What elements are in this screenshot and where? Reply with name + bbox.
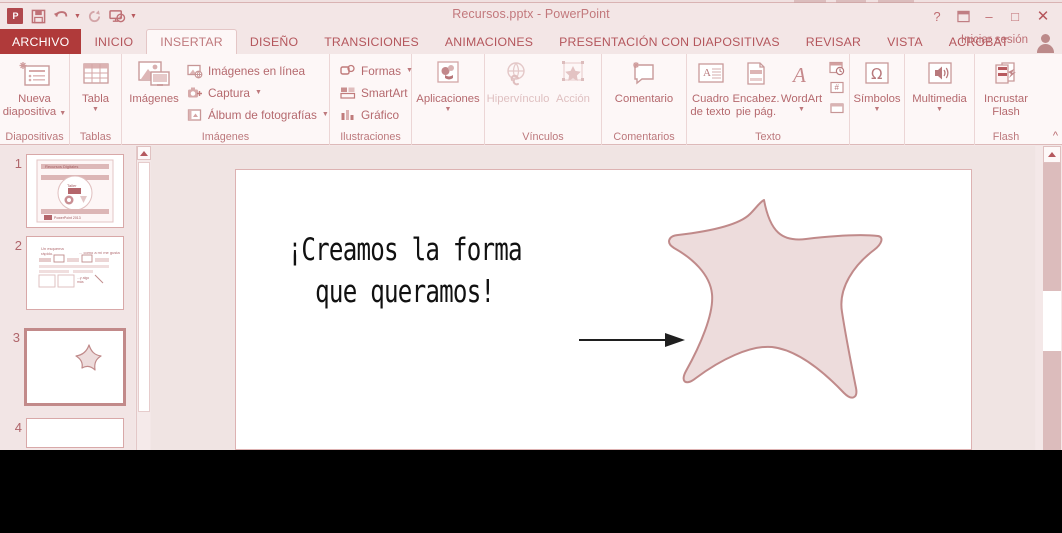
slide-text-block[interactable]: ¡Creamos la forma que queramos!	[276, 230, 533, 314]
slide-thumb-1[interactable]: Recursos Digitales Taller PowerPoint 201…	[26, 154, 124, 228]
slide-text-line-2: que queramos!	[276, 272, 533, 314]
ribbon-group-imagenes: Imágenes Imágenes en línea	[122, 54, 330, 145]
hyperlink-icon	[502, 57, 534, 93]
svg-text:A: A	[703, 67, 711, 79]
photo-album-item[interactable]: Álbum de fotografías ▼	[186, 104, 329, 126]
svg-text:Ω: Ω	[871, 65, 882, 83]
slide-number-icon[interactable]: #	[828, 79, 848, 97]
group-label-diapositivas: Diapositivas	[0, 130, 69, 145]
object-icon[interactable]	[828, 99, 848, 117]
svg-text:más: más	[77, 280, 84, 284]
powerpoint-window: P ▼	[0, 0, 1062, 450]
screenshot-icon	[186, 85, 203, 102]
slide-2-preview: Un esquema rápido... ... como a mí me gu…	[27, 237, 123, 309]
group-label-ilustraciones: Ilustraciones	[330, 130, 411, 145]
scroll-up-icon	[140, 151, 148, 156]
embed-flash-label-2: Flash	[992, 106, 1020, 119]
svg-text:#: #	[835, 83, 840, 92]
ribbon-group-multimedia: Multimedia ▼	[905, 54, 975, 145]
svg-text:Taller: Taller	[67, 183, 77, 188]
media-speaker-icon	[925, 57, 955, 93]
apps-label: Aplicaciones	[416, 93, 479, 106]
online-pictures-icon	[186, 63, 203, 80]
avatar[interactable]	[1034, 32, 1056, 53]
sign-in-link[interactable]: Iniciar sesión	[961, 34, 1028, 46]
embed-flash-icon	[990, 57, 1022, 93]
group-label-tablas: Tablas	[70, 130, 121, 145]
group-label-simbolos	[850, 130, 904, 145]
slide-thumb-3[interactable]	[24, 328, 126, 406]
action-icon	[557, 57, 589, 93]
date-time-icon[interactable]	[828, 59, 848, 77]
minimize-button[interactable]: –	[976, 5, 1002, 27]
slide-thumb-2[interactable]: Un esquema rápido... ... como a mí me gu…	[26, 236, 124, 310]
tab-vista[interactable]: VISTA	[874, 29, 936, 54]
ribbon-group-comentarios: Comentario Comentarios	[602, 54, 687, 145]
ribbon-options-icon[interactable]	[950, 5, 976, 27]
scroll-up-icon	[1048, 152, 1056, 157]
table-button[interactable]: Tabla ▼	[70, 57, 121, 114]
wordart-caret-icon[interactable]: ▼	[798, 106, 805, 114]
ribbon-group-vinculos: Hipervínculo Acción	[485, 54, 602, 145]
slide-number-2: 2	[4, 236, 22, 253]
new-slide-label-1: Nueva	[18, 93, 51, 106]
slide-canvas[interactable]: ¡Creamos la forma que queramos!	[235, 169, 972, 450]
wordart-label: WordArt	[781, 93, 822, 106]
ribbon-group-diapositivas: Nueva diapositiva ▼ Diapositivas	[0, 54, 70, 145]
maximize-button[interactable]: □	[1002, 5, 1028, 27]
freeform-star-shape[interactable]	[646, 190, 906, 430]
action-button[interactable]: Acción	[548, 57, 598, 106]
collapse-ribbon-icon[interactable]: ^	[1053, 130, 1058, 142]
media-button[interactable]: Multimedia ▼	[905, 57, 974, 114]
smartart-label: SmartArt	[361, 86, 408, 100]
online-pictures-label: Imágenes en línea	[208, 64, 305, 78]
screenshot-caret-icon[interactable]: ▼	[255, 89, 262, 97]
svg-text:PowerPoint 2013: PowerPoint 2013	[54, 216, 81, 220]
symbol-omega-icon: Ω	[862, 57, 892, 93]
ribbon-group-ilustraciones: Formas ▼ SmartArt	[330, 54, 412, 145]
symbols-label: Símbolos	[853, 93, 900, 106]
text-box-icon: A	[696, 57, 726, 93]
embed-flash-button[interactable]: Incrustar Flash	[975, 57, 1037, 118]
hyperlink-button[interactable]: Hipervínculo	[488, 57, 548, 106]
header-footer-label-2: pie pág.	[736, 106, 776, 119]
header-footer-label-1: Encabez.	[732, 93, 779, 106]
group-label-vinculos: Vínculos	[485, 130, 601, 145]
window-title: Recursos.pptx - PowerPoint	[0, 7, 1062, 21]
tab-inicio[interactable]: INICIO	[81, 29, 146, 54]
thumbnail-scroll-up-button[interactable]	[137, 146, 151, 160]
ribbon-group-simbolos: Ω Símbolos ▼	[850, 54, 905, 145]
tab-presentacion[interactable]: PRESENTACIÓN CON DIAPOSITIVAS	[546, 29, 793, 54]
shapes-label: Formas	[361, 64, 401, 78]
screenshot-item[interactable]: Captura ▼	[186, 82, 329, 104]
main-vertical-scrollbar[interactable]	[1036, 146, 1062, 450]
chart-icon	[339, 107, 356, 124]
media-label: Multimedia	[912, 93, 967, 106]
online-pictures-item[interactable]: Imágenes en línea	[186, 60, 329, 82]
list-item[interactable]: 4	[4, 418, 124, 448]
svg-text:... como a mí me gusta: ... como a mí me gusta	[79, 250, 120, 255]
slide-edit-area[interactable]: ¡Creamos la forma que queramos!	[151, 146, 1035, 450]
table-caret-icon[interactable]: ▼	[92, 106, 99, 114]
tab-transiciones[interactable]: TRANSICIONES	[311, 29, 432, 54]
new-slide-button[interactable]: Nueva diapositiva ▼	[0, 57, 69, 118]
thumbnail-panel-scrollbar[interactable]	[136, 146, 150, 450]
tab-list: ARCHIVO INICIO INSERTAR DISEÑO TRANSICIO…	[0, 29, 1022, 54]
shapes-item[interactable]: Formas ▼	[339, 60, 413, 82]
pictures-label: Imágenes	[129, 93, 179, 106]
tab-insertar[interactable]: INSERTAR	[146, 29, 237, 54]
svg-text:A: A	[791, 63, 806, 87]
tab-archivo[interactable]: ARCHIVO	[0, 29, 81, 54]
group-label-texto: Texto	[687, 130, 849, 145]
header-footer-button[interactable]: Encabez. pie pág.	[733, 57, 780, 118]
group-label-flash: Flash	[975, 130, 1037, 145]
chart-item[interactable]: Gráfico	[339, 104, 413, 126]
main-scroll-up-button[interactable]	[1043, 146, 1061, 163]
slide-number-1: 1	[4, 154, 22, 171]
list-item[interactable]: 2 Un esquema rápido... ... como a mí me …	[4, 236, 124, 310]
embed-flash-label-1: Incrustar	[984, 93, 1028, 106]
ribbon-group-tablas: Tabla ▼ Tablas	[70, 54, 122, 145]
tab-revisar[interactable]: REVISAR	[793, 29, 874, 54]
hyperlink-label: Hipervínculo	[487, 93, 550, 106]
wordart-icon: A	[788, 57, 816, 93]
ribbon-group-aplicaciones: Aplicaciones ▼	[412, 54, 485, 145]
window-controls: ? – □ ✕	[924, 5, 1058, 27]
group-label-imagenes: Imágenes	[122, 130, 329, 145]
tab-diseno[interactable]: DISEÑO	[237, 29, 311, 54]
apps-button[interactable]: Aplicaciones ▼	[412, 57, 484, 114]
photo-album-label: Álbum de fotografías	[208, 108, 317, 122]
ilustraciones-commands: Formas ▼ SmartArt	[335, 57, 413, 129]
help-icon[interactable]: ?	[924, 5, 950, 27]
apps-caret-icon[interactable]: ▼	[445, 106, 452, 114]
slides-thumbnail-panel[interactable]: 1 Recursos Digitales Taller PowerPoint 2…	[0, 146, 135, 450]
ribbon-group-flash: Incrustar Flash Flash	[975, 54, 1037, 145]
symbols-caret-icon[interactable]: ▼	[874, 106, 881, 114]
smartart-icon	[339, 85, 356, 102]
shapes-icon	[339, 63, 356, 80]
comment-button[interactable]: Comentario	[602, 57, 686, 106]
new-slide-label-2: diapositiva ▼	[3, 106, 66, 119]
new-slide-icon	[18, 57, 52, 93]
group-label-comentarios: Comentarios	[602, 130, 686, 145]
wordart-button[interactable]: A WordArt ▼	[780, 57, 824, 114]
ribbon-tabs: ARCHIVO INICIO INSERTAR DISEÑO TRANSICIO…	[0, 29, 1062, 54]
list-item[interactable]: 1 Recursos Digitales Taller PowerPoint 2…	[4, 154, 124, 228]
table-icon	[81, 57, 111, 93]
list-item[interactable]: 3	[2, 328, 126, 406]
action-label: Acción	[556, 93, 590, 106]
apps-icon	[431, 57, 465, 93]
title-bar: P ▼	[0, 3, 1062, 29]
comment-icon	[627, 57, 661, 93]
header-footer-icon	[743, 57, 769, 93]
group-label-aplicaciones	[412, 130, 484, 145]
slide-number-3: 3	[2, 328, 20, 345]
ribbon-group-texto: A Cuadro de texto	[687, 54, 850, 145]
slide-thumb-4[interactable]	[26, 418, 124, 448]
imagenes-small-commands: Imágenes en línea Captura ▼	[182, 57, 329, 129]
thumbnail-scrollbar-thumb[interactable]	[138, 162, 150, 412]
ribbon: Nueva diapositiva ▼ Diapositivas	[0, 54, 1062, 145]
slide-3-preview	[27, 331, 123, 403]
photo-album-icon	[186, 107, 203, 124]
close-button[interactable]: ✕	[1028, 5, 1058, 27]
main-scrollbar-thumb[interactable]	[1043, 291, 1061, 351]
svg-text:Recursos Digitales: Recursos Digitales	[45, 164, 78, 169]
pictures-button[interactable]: Imágenes	[126, 57, 182, 106]
slide-text-line-1: ¡Creamos la forma	[276, 230, 533, 272]
photo-album-caret-icon[interactable]: ▼	[322, 111, 329, 119]
pictures-icon	[136, 57, 172, 93]
texto-mini-commands: #	[824, 57, 848, 129]
group-label-multimedia	[905, 130, 974, 145]
table-label: Tabla	[82, 93, 109, 106]
text-box-button[interactable]: A Cuadro de texto	[689, 57, 733, 118]
symbols-button[interactable]: Ω Símbolos ▼	[850, 57, 904, 114]
slide-number-4: 4	[4, 418, 22, 435]
chart-label: Gráfico	[361, 108, 399, 122]
media-caret-icon[interactable]: ▼	[936, 106, 943, 114]
slide-1-preview: Recursos Digitales Taller PowerPoint 201…	[27, 155, 123, 227]
smartart-item[interactable]: SmartArt	[339, 82, 413, 104]
svg-text:rápido...: rápido...	[41, 251, 55, 256]
tab-animaciones[interactable]: ANIMACIONES	[432, 29, 546, 54]
text-box-label-2: de texto	[690, 106, 730, 119]
text-box-label-1: Cuadro	[692, 93, 729, 106]
comment-label: Comentario	[615, 93, 673, 106]
screenshot-label: Captura	[208, 86, 250, 100]
